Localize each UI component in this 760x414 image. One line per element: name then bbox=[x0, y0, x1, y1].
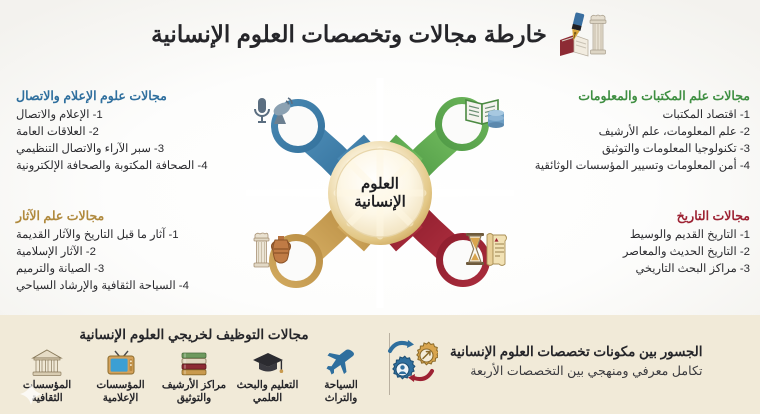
branch-archaeology-block: مجالات علم الآثار 1- آثار ما قبل التاريخ… bbox=[16, 208, 268, 295]
infographic-canvas: خارطة مجالات وتخصصات العلوم الإنسانية bbox=[0, 0, 760, 414]
list-item: 1- آثار ما قبل التاريخ والآثار القديمة bbox=[16, 227, 268, 244]
list-item: 2- العلاقات العامة bbox=[16, 124, 268, 141]
branch-library-heading: مجالات علم المكتبات والمعلومات bbox=[498, 88, 750, 105]
job-tourism-heritage: السياحة والتراث bbox=[306, 349, 376, 406]
page-title-text: خارطة مجالات وتخصصات العلوم الإنسانية bbox=[151, 21, 547, 48]
list-item: 1- التاريخ القديم والوسيط bbox=[498, 227, 750, 244]
job-label: التعليم والبحث العلمي bbox=[237, 379, 299, 406]
list-item: 3- تكنولوجيا المعلومات والتوثيق bbox=[498, 141, 750, 158]
job-archives-documentation: مراكز الأرشيف والتوثيق bbox=[159, 349, 229, 406]
airplane-icon bbox=[325, 349, 357, 377]
job-media-institutions: المؤسسات الإعلامية bbox=[86, 349, 156, 406]
job-label: مراكز الأرشيف والتوثيق bbox=[162, 379, 226, 406]
list-item: 1- الإعلام والاتصال bbox=[16, 107, 268, 124]
job-label: المؤسسات الإعلامية bbox=[96, 379, 144, 406]
list-item: 3- الصيانة والترميم bbox=[16, 261, 268, 278]
bridges-line1: الجسور بين مكونات تخصصات العلوم الإنساني… bbox=[450, 344, 702, 359]
branch-media-list: 1- الإعلام والاتصال 2- العلاقات العامة 3… bbox=[16, 107, 268, 175]
page-title: خارطة مجالات وتخصصات العلوم الإنسانية bbox=[0, 6, 760, 62]
list-item: 4- الصحافة المكتوبة والصحافة الإلكترونية bbox=[16, 158, 268, 175]
job-label: السياحة والتراث bbox=[324, 379, 358, 406]
jobs-heading: مجالات التوظيف لخريجي العلوم الإنسانية bbox=[8, 327, 380, 343]
branch-library-list: 1- اقتصاد المكتبات 2- علم المعلومات، علم… bbox=[498, 107, 750, 175]
jobs-section: مجالات التوظيف لخريجي العلوم الإنسانية bbox=[8, 327, 380, 406]
list-item: 1- اقتصاد المكتبات bbox=[498, 107, 750, 124]
branch-history-list: 1- التاريخ القديم والوسيط 2- التاريخ الح… bbox=[498, 227, 750, 278]
bridges-section: الجسور بين مكونات تخصصات العلوم الإنساني… bbox=[384, 337, 744, 385]
list-item: 2- التاريخ الحديث والمعاصر bbox=[498, 244, 750, 261]
jobs-row: المؤسسات الثقافية bbox=[8, 349, 380, 406]
humanities-map-diagram: العلوم الإنسانية bbox=[246, 78, 514, 308]
list-item: 4- أمن المعلومات وتسيير المؤسسات الوثائق… bbox=[498, 158, 750, 175]
sparkle-icon bbox=[20, 383, 42, 405]
list-item: 4- السياحة الثقافية والإرشاد السياحي bbox=[16, 278, 268, 295]
branch-archaeology-list: 1- آثار ما قبل التاريخ والآثار القديمة 2… bbox=[16, 227, 268, 295]
list-item: 2- علم المعلومات، علم الأرشيف bbox=[498, 124, 750, 141]
job-education-research: التعليم والبحث العلمي bbox=[233, 349, 303, 406]
list-item: 3- سبر الآراء والاتصال التنظيمي bbox=[16, 141, 268, 158]
television-icon bbox=[105, 349, 137, 377]
bridges-text: الجسور بين مكونات تخصصات العلوم الإنساني… bbox=[450, 342, 702, 381]
museum-icon bbox=[31, 349, 63, 377]
bridges-line2: تكامل معرفي ومنهجي بين التخصصات الأربعة bbox=[470, 364, 702, 378]
graduation-cap-icon bbox=[252, 349, 284, 377]
branch-history-block: مجالات التاريخ 1- التاريخ القديم والوسيط… bbox=[498, 208, 750, 278]
footer-band: الجسور بين مكونات تخصصات العلوم الإنساني… bbox=[0, 315, 760, 414]
branch-media-heading: مجالات علوم الإعلام والاتصال bbox=[16, 88, 268, 105]
list-item: 3- مراكز البحث التاريخي bbox=[498, 261, 750, 278]
gears-cycle-icon bbox=[384, 337, 438, 385]
branch-history-heading: مجالات التاريخ bbox=[498, 208, 750, 225]
branch-archaeology-heading: مجالات علم الآثار bbox=[16, 208, 268, 225]
branch-library-block: مجالات علم المكتبات والمعلومات 1- اقتصاد… bbox=[498, 88, 750, 175]
book-pen-column-icon bbox=[557, 10, 609, 58]
hub-rays bbox=[337, 150, 423, 236]
branch-media-block: مجالات علوم الإعلام والاتصال 1- الإعلام … bbox=[16, 88, 268, 175]
list-item: 2- الآثار الإسلامية bbox=[16, 244, 268, 261]
books-stack-icon bbox=[178, 349, 210, 377]
